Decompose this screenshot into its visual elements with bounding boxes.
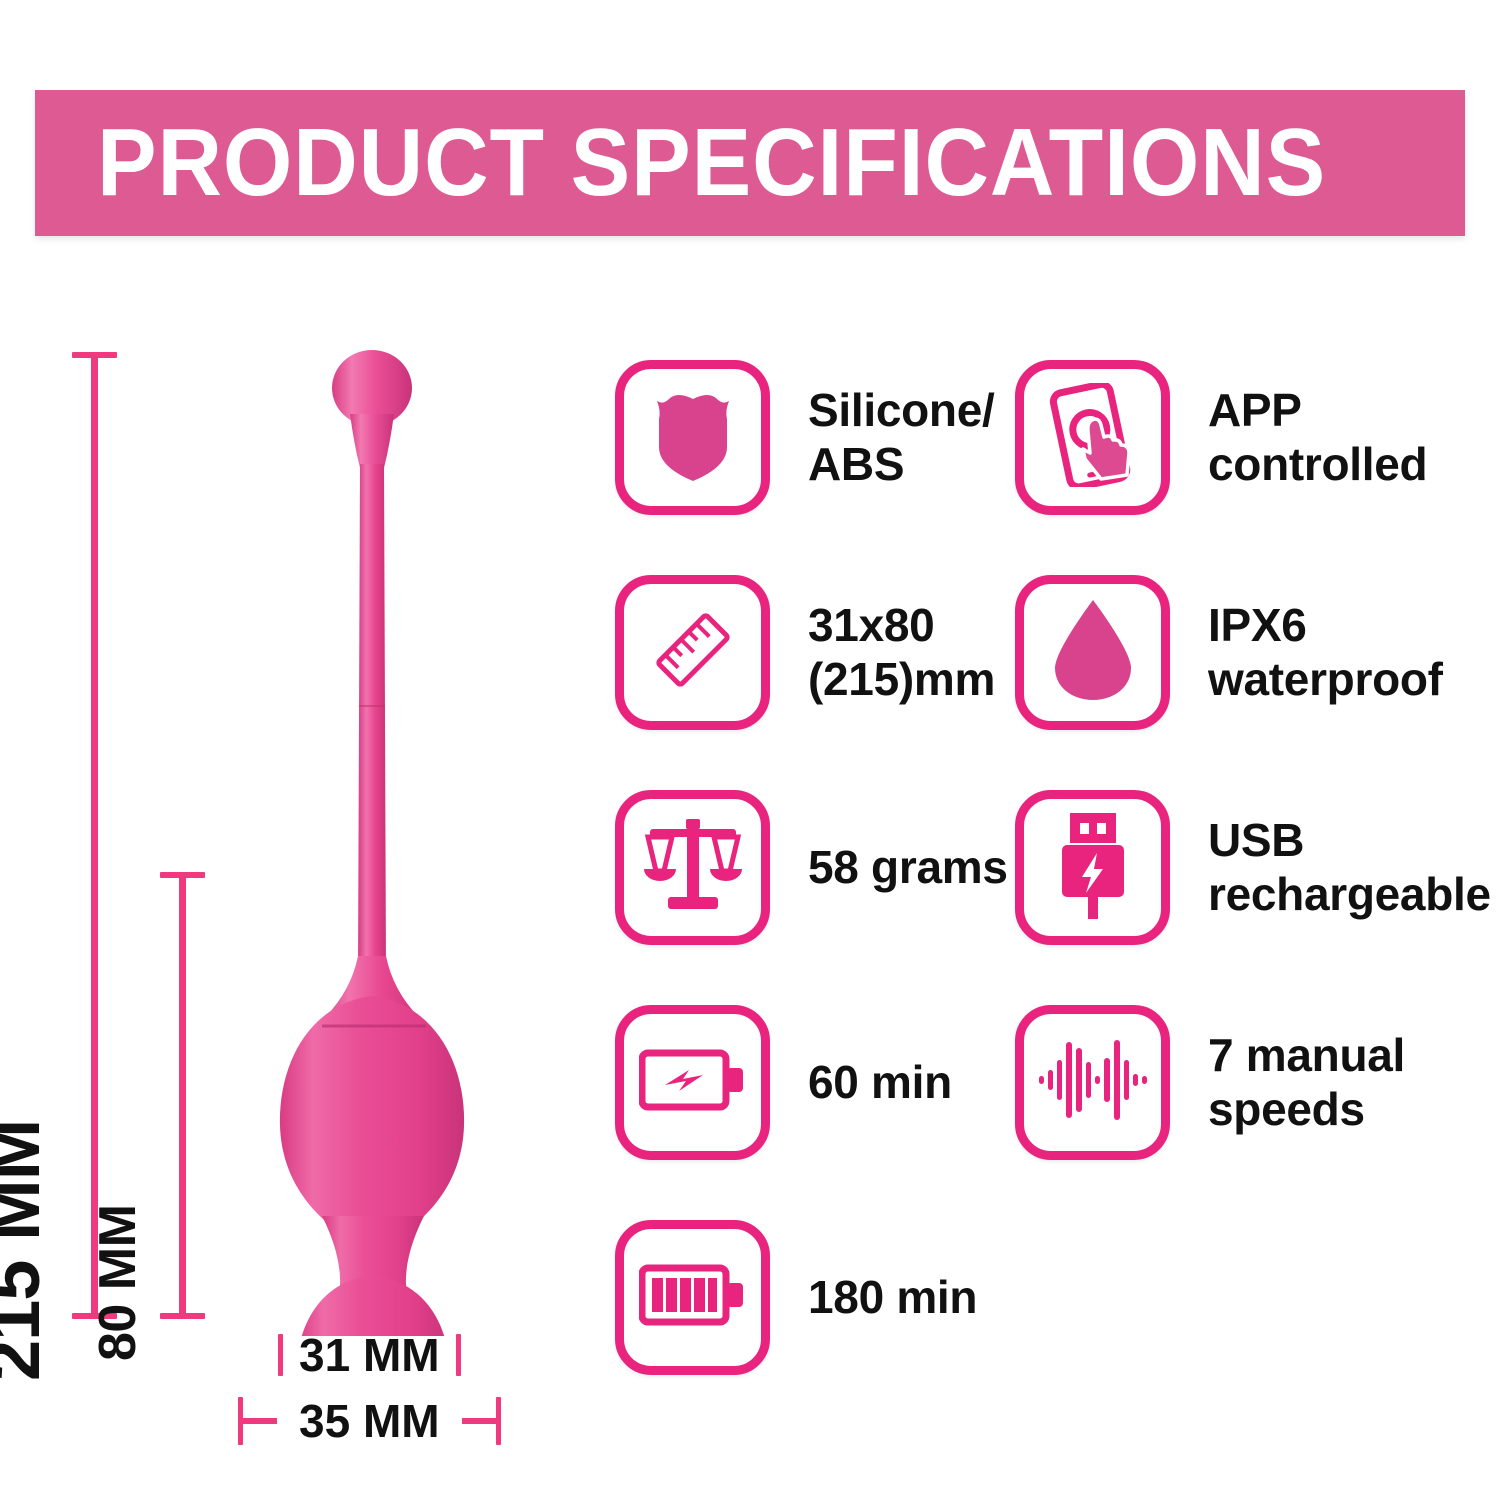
spec-item-weight: 58 grams: [615, 790, 1008, 945]
dimension-31-tick-right: [456, 1334, 461, 1376]
dimension-215-label: 215 MM: [0, 1120, 56, 1381]
dimension-35-row: 35 MM: [238, 1394, 501, 1448]
phone-touch-icon: [1041, 383, 1145, 492]
product-image: [250, 336, 510, 1336]
spec-label-app: APP controlled: [1208, 384, 1427, 492]
spec-label-runtime: 60 min: [808, 1056, 952, 1110]
specifications-grid: Silicone/ ABS 31x80 (215)mm: [615, 360, 1485, 1420]
spec-icon-box-app: [1015, 360, 1170, 515]
spec-icon-box-material: [615, 360, 770, 515]
spec-item-runtime: 60 min: [615, 1005, 952, 1160]
spec-label-size: 31x80 (215)mm: [808, 599, 995, 707]
dimension-31-label: 31 MM: [299, 1328, 440, 1382]
scale-icon: [642, 817, 744, 918]
spec-icon-box-size: [615, 575, 770, 730]
spec-item-size: 31x80 (215)mm: [615, 575, 995, 730]
dimension-35-arm-right: [462, 1418, 496, 1424]
spec-item-speeds: 7 manual speeds: [1015, 1005, 1405, 1160]
spec-icon-box-usb: [1015, 790, 1170, 945]
spec-icon-box-runtime: [615, 1005, 770, 1160]
spec-label-material: Silicone/ ABS: [808, 384, 994, 492]
spec-icon-box-charge: [615, 1220, 770, 1375]
spec-item-usb: USB rechargeable: [1015, 790, 1491, 945]
water-drop-icon: [1051, 598, 1135, 707]
ruler-icon: [643, 600, 743, 705]
usb-plug-icon: [1052, 811, 1134, 924]
spec-item-waterproof: IPX6 waterproof: [1015, 575, 1443, 730]
product-dimension-panel: 215 MM 80 MM: [0, 236, 600, 1500]
dimension-31-tick-left: [278, 1334, 283, 1376]
spec-label-usb: USB rechargeable: [1208, 814, 1491, 922]
spec-item-material: Silicone/ ABS: [615, 360, 994, 515]
spec-icon-box-weight: [615, 790, 770, 945]
spec-label-waterproof: IPX6 waterproof: [1208, 599, 1443, 707]
page-title: PRODUCT SPECIFICATIONS: [97, 115, 1326, 211]
dimension-215-line: [91, 356, 98, 1319]
spec-icon-box-speeds: [1015, 1005, 1170, 1160]
dimension-31-row: 31 MM: [278, 1328, 461, 1382]
spec-label-weight: 58 grams: [808, 841, 1008, 895]
shield-icon: [647, 385, 739, 490]
dimension-35-arm-left: [243, 1418, 277, 1424]
battery-full-icon: [639, 1263, 747, 1332]
header-banner: PRODUCT SPECIFICATIONS: [35, 90, 1465, 236]
sound-wave-icon: [1037, 1030, 1149, 1135]
dimension-80-label: 80 MM: [88, 1205, 148, 1361]
spec-item-app: APP controlled: [1015, 360, 1427, 515]
spec-item-charge: 180 min: [615, 1220, 977, 1375]
spec-label-speeds: 7 manual speeds: [1208, 1029, 1405, 1137]
dimension-80-cap-bottom: [160, 1313, 205, 1319]
spec-icon-box-waterproof: [1015, 575, 1170, 730]
battery-bolt-icon: [639, 1048, 747, 1117]
dimension-35-label: 35 MM: [299, 1394, 440, 1448]
spec-label-charge: 180 min: [808, 1271, 977, 1325]
dimension-35-tick-right: [496, 1397, 501, 1445]
dimension-80-line: [179, 876, 186, 1319]
